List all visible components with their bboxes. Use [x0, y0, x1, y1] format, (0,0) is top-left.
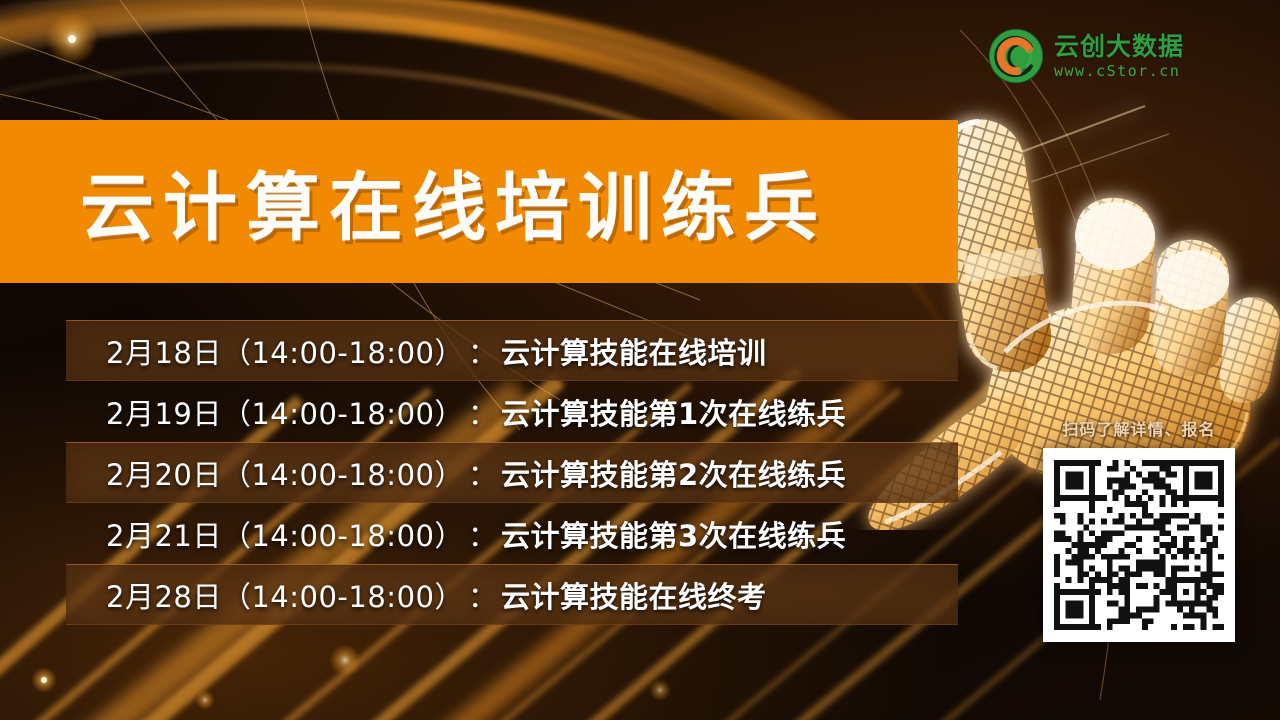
- schedule-separator: ：: [468, 452, 497, 494]
- schedule-time: （14:00-18:00）: [222, 452, 464, 494]
- schedule-date: 2月21日: [106, 513, 222, 555]
- poster-root: 云创大数据 www.cStor.cn 云计算在线培训练兵 2月18日 （14:0…: [0, 0, 1280, 720]
- schedule-row: 2月28日 （14:00-18:00） ： 云计算技能在线终考: [66, 564, 958, 625]
- qr-code-image[interactable]: [1043, 448, 1235, 642]
- schedule-session-title: 云计算技能第1次在线练兵: [501, 391, 846, 433]
- schedule-separator: ：: [468, 574, 497, 616]
- qr-caption: 扫码了解详情、报名: [1043, 416, 1235, 440]
- schedule-time: （14:00-18:00）: [222, 574, 464, 616]
- logo-website: www.cStor.cn: [1054, 64, 1184, 79]
- schedule-date: 2月28日: [106, 574, 222, 616]
- schedule-date: 2月18日: [106, 330, 222, 372]
- logo-text-block: 云创大数据 www.cStor.cn: [1054, 34, 1184, 79]
- schedule-session-title: 云计算技能第2次在线练兵: [501, 452, 846, 494]
- schedule-session-title: 云计算技能在线培训: [501, 330, 767, 372]
- schedule-separator: ：: [468, 391, 497, 433]
- schedule-date: 2月19日: [106, 391, 222, 433]
- page-title: 云计算在线培训练兵: [80, 148, 827, 255]
- schedule-row: 2月18日 （14:00-18:00） ： 云计算技能在线培训: [66, 320, 958, 381]
- title-banner: 云计算在线培训练兵: [0, 120, 958, 283]
- logo-company-name: 云创大数据: [1054, 34, 1184, 59]
- schedule-time: （14:00-18:00）: [222, 391, 464, 433]
- schedule-time: （14:00-18:00）: [222, 330, 464, 372]
- schedule-session-title: 云计算技能第3次在线练兵: [501, 513, 846, 555]
- schedule-row: 2月20日 （14:00-18:00） ： 云计算技能第2次在线练兵: [66, 442, 958, 503]
- schedule-row: 2月19日 （14:00-18:00） ： 云计算技能第1次在线练兵: [66, 381, 958, 442]
- schedule-session-title: 云计算技能在线终考: [501, 574, 767, 616]
- schedule-date: 2月20日: [106, 452, 222, 494]
- schedule-separator: ：: [468, 330, 497, 372]
- cstor-swirl-icon: [988, 28, 1044, 84]
- schedule-list: 2月18日 （14:00-18:00） ： 云计算技能在线培训 2月19日 （1…: [66, 320, 958, 625]
- schedule-time: （14:00-18:00）: [222, 513, 464, 555]
- schedule-row: 2月21日 （14:00-18:00） ： 云计算技能第3次在线练兵: [66, 503, 958, 564]
- qr-registration-block: 扫码了解详情、报名: [1043, 416, 1235, 642]
- brand-logo[interactable]: 云创大数据 www.cStor.cn: [988, 28, 1184, 84]
- schedule-separator: ：: [468, 513, 497, 555]
